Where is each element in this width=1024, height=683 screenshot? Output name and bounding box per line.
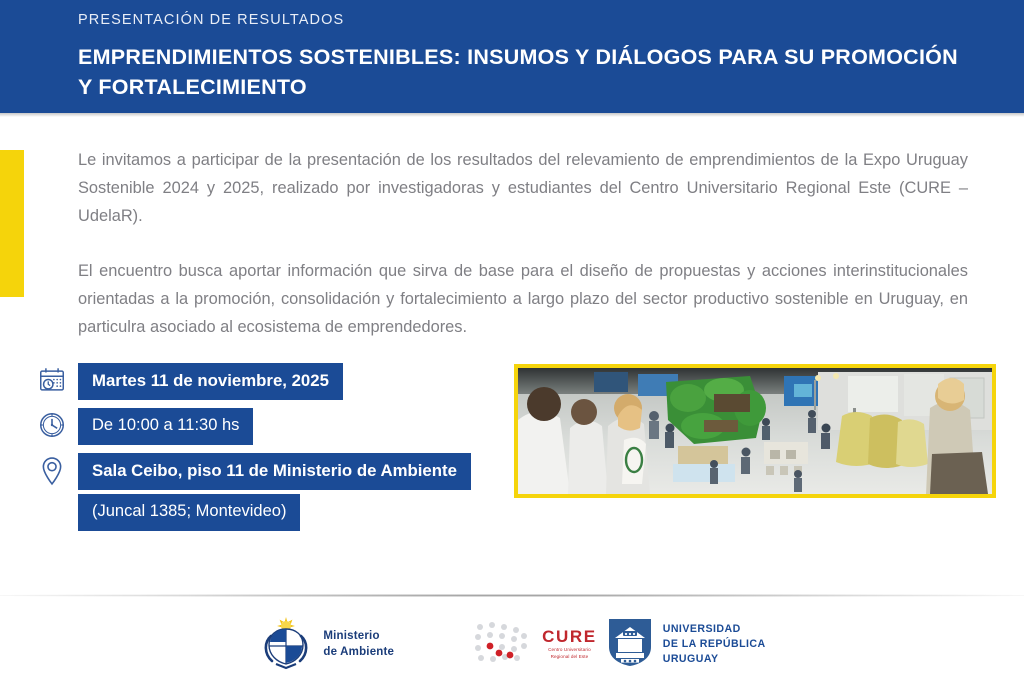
cure-subtitle-line1: Centro Universitario [548, 647, 591, 652]
detail-row: De 10:00 a 11:30 hs [26, 408, 506, 445]
event-venue-chip: Sala Ceibo, piso 11 de Ministerio de Amb… [78, 453, 471, 490]
detail-row: Sala Ceibo, piso 11 de Ministerio de Amb… [26, 453, 506, 490]
eyebrow-text: PRESENTACIÓN DE RESULTADOS [78, 12, 964, 29]
intro-paragraph: Le invitamos a participar de la presenta… [78, 146, 968, 231]
event-time-chip: De 10:00 a 11:30 hs [78, 408, 253, 445]
logo-cure: CURE Centro Universitario Regional del E… [472, 617, 765, 672]
cure-title: CURE [542, 628, 597, 645]
purpose-paragraph: El encuentro busca aportar información q… [78, 257, 968, 342]
udelar-wordmark: UNIVERSIDAD DE LA REPÚBLICA URUGUAY [663, 622, 766, 667]
logo-ministerio-de-ambiente: Ministerio de Ambiente [258, 614, 394, 675]
cure-subtitle-line2: Regional del Este [551, 654, 589, 659]
page-title-line-2: Y FORTALECIMIENTO [78, 75, 307, 99]
udelar-line3: URUGUAY [663, 653, 719, 665]
cure-wordmark: CURE Centro Universitario Regional del E… [542, 628, 597, 660]
event-address-chip: (Juncal 1385; Montevideo) [78, 494, 300, 531]
cure-subtitle: Centro Universitario Regional del Este [548, 647, 591, 660]
udelar-line2: DE LA REPÚBLICA [663, 638, 766, 650]
logo-ministerio-line2: de Ambiente [323, 646, 394, 658]
detail-row: (Juncal 1385; Montevideo) [26, 494, 506, 531]
footer-divider [0, 594, 1024, 597]
event-photo [514, 364, 996, 498]
cure-dots-icon [472, 619, 532, 670]
event-details: Martes 11 de noviembre, 2025 De 10:00 a … [26, 363, 506, 539]
uruguay-coat-of-arms-icon [258, 614, 314, 675]
page-title-line-1: EMPRENDIMIENTOS SOSTENIBLES: INSUMOS Y D… [78, 45, 958, 69]
udelar-shield-icon [607, 617, 653, 672]
calendar-icon [26, 363, 78, 395]
location-pin-icon [26, 453, 78, 487]
clock-icon [26, 408, 78, 440]
page-title: EMPRENDIMIENTOS SOSTENIBLES: INSUMOS Y D… [78, 43, 964, 102]
body-copy: Le invitamos a participar de la presenta… [78, 146, 968, 341]
yellow-accent-bar [0, 150, 24, 297]
logo-ministerio-line1: Ministerio [323, 630, 379, 642]
detail-row: Martes 11 de noviembre, 2025 [26, 363, 506, 400]
logo-ministerio-label: Ministerio de Ambiente [323, 629, 394, 660]
event-date-chip: Martes 11 de noviembre, 2025 [78, 363, 343, 400]
footer-logos: Ministerio de Ambiente [0, 606, 1024, 683]
poster-header: PRESENTACIÓN DE RESULTADOS EMPRENDIMIENT… [0, 0, 1024, 113]
event-invitation-poster: PRESENTACIÓN DE RESULTADOS EMPRENDIMIENT… [0, 0, 1024, 683]
udelar-line1: UNIVERSIDAD [663, 623, 741, 635]
event-photo-image [518, 368, 992, 494]
